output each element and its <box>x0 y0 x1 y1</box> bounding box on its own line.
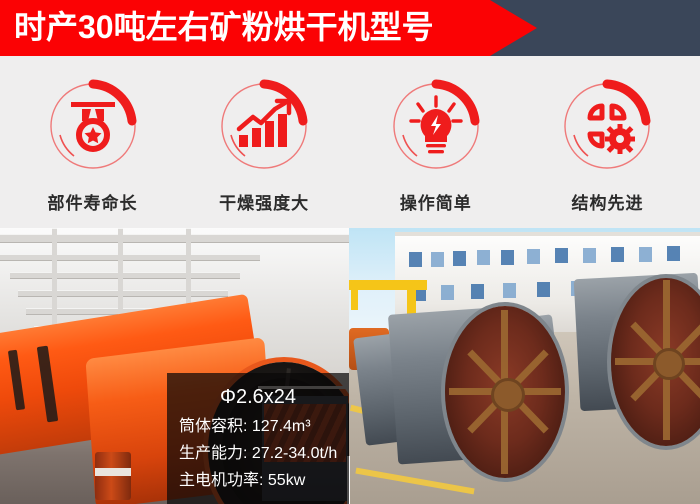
roof-beam <box>0 254 260 261</box>
spec-panel-left: Φ2.6x24 筒体容积: 127.4m³ 生产能力: 27.2-34.0t/h… <box>167 373 349 504</box>
feature-item-advanced-structure[interactable]: 结构先进 <box>525 57 690 214</box>
feature-label: 部件寿命长 <box>48 189 138 214</box>
window <box>477 250 490 265</box>
window <box>431 252 444 267</box>
roof-beam <box>18 290 228 297</box>
medal-icon <box>40 73 146 179</box>
promo-page: 时产30吨左右矿粉烘干机型号 部件寿命长 <box>0 0 700 504</box>
petals-gear-icon <box>554 73 660 179</box>
window <box>501 250 514 265</box>
feature-item-easy-operation[interactable]: 操作简单 <box>353 57 518 214</box>
cylinder-hub <box>653 348 685 380</box>
window <box>611 247 624 262</box>
window <box>639 247 652 262</box>
feature-list: 部件寿命长 干燥强度大 <box>0 57 700 228</box>
lightbulb-icon <box>383 73 489 179</box>
spec-volume: 筒体容积: 127.4m³ <box>167 413 349 440</box>
gray-rotary-dryer-photo[interactable]: Φ3.0x20 筒体容积: 141.3m³ 生产能力: 30.1-37.7t/h… <box>349 228 700 504</box>
gantry-crane-leg <box>351 286 358 310</box>
window <box>583 248 596 263</box>
window <box>527 249 540 264</box>
spec-motor-power: 主电机功率: 55kw <box>167 467 349 494</box>
window <box>503 283 516 298</box>
photo-gallery: Φ2.6x24 筒体容积: 127.4m³ 生产能力: 27.2-34.0t/h… <box>0 228 700 504</box>
roof-beam <box>10 272 240 279</box>
feature-item-durability[interactable]: 部件寿命长 <box>10 57 175 214</box>
feature-label: 结构先进 <box>571 189 643 214</box>
window <box>441 285 454 300</box>
feature-label: 干燥强度大 <box>219 189 309 214</box>
window <box>471 284 484 299</box>
page-title: 时产30吨左右矿粉烘干机型号 <box>14 0 434 56</box>
feature-item-drying-intensity[interactable]: 干燥强度大 <box>182 57 347 214</box>
window <box>409 252 422 267</box>
window <box>453 251 466 266</box>
spec-model: Φ2.6x24 <box>167 383 349 411</box>
support-stand <box>95 452 131 500</box>
cylinder-hub <box>491 378 525 412</box>
feature-label: 操作简单 <box>400 189 472 214</box>
window <box>667 246 680 261</box>
bar-chart-growth-icon <box>211 73 317 179</box>
window <box>555 248 568 263</box>
window <box>537 282 550 297</box>
spec-capacity: 生产能力: 27.2-34.0t/h <box>167 440 349 467</box>
orange-rotary-dryer-photo[interactable]: Φ2.6x24 筒体容积: 127.4m³ 生产能力: 27.2-34.0t/h… <box>0 228 349 504</box>
page-header: 时产30吨左右矿粉烘干机型号 <box>0 0 700 57</box>
